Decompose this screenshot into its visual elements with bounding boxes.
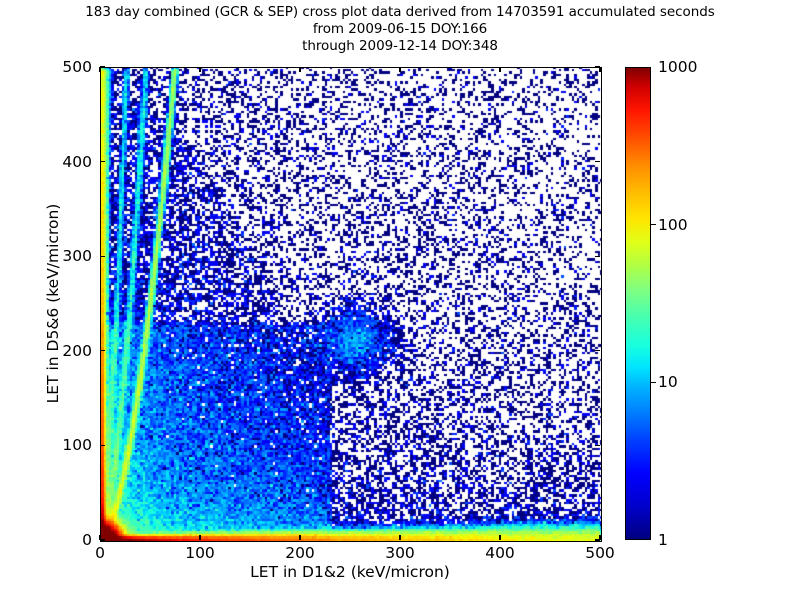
y-tick-right-100 <box>595 445 600 446</box>
colorbar: 1101001000 Counts <box>625 67 651 540</box>
y-tick-400 <box>100 161 105 162</box>
y-tick-right-200 <box>595 350 600 351</box>
chart-title-line-1: 183 day combined (GCR & SEP) cross plot … <box>0 4 800 21</box>
plot-area <box>100 67 602 542</box>
y-tick-100 <box>100 445 105 446</box>
y-tick-300 <box>100 256 105 257</box>
x-tick-label-300: 300 <box>385 544 415 562</box>
colorbar-tick-100 <box>651 224 656 225</box>
colorbar-tick-label-100: 100 <box>658 216 688 234</box>
x-tick-top-0 <box>99 67 100 72</box>
y-tick-right-400 <box>595 161 600 162</box>
y-tick-500 <box>100 66 105 67</box>
x-tick-label-500: 500 <box>585 544 615 562</box>
x-tick-300 <box>399 535 400 540</box>
x-tick-100 <box>199 535 200 540</box>
y-tick-200 <box>100 350 105 351</box>
colorbar-gradient <box>625 67 651 540</box>
y-tick-right-500 <box>595 66 600 67</box>
x-tick-top-400 <box>499 67 500 72</box>
x-tick-200 <box>299 535 300 540</box>
figure-canvas: 183 day combined (GCR & SEP) cross plot … <box>0 0 800 600</box>
x-tick-top-100 <box>199 67 200 72</box>
y-axis-label: LET in D5&6 (keV/micron) <box>44 67 62 540</box>
chart-title: 183 day combined (GCR & SEP) cross plot … <box>0 4 800 55</box>
chart-title-line-3: through 2009-12-14 DOY:348 <box>0 38 800 55</box>
colorbar-tick-label-1: 1 <box>658 531 668 549</box>
x-tick-label-200: 200 <box>285 544 315 562</box>
colorbar-tick-label-1000: 1000 <box>658 58 697 76</box>
colorbar-tick-label-10: 10 <box>658 373 678 391</box>
x-tick-label-400: 400 <box>485 544 515 562</box>
x-tick-top-300 <box>399 67 400 72</box>
x-axis-label: LET in D1&2 (keV/micron) <box>100 563 600 581</box>
x-tick-label-0: 0 <box>95 544 105 562</box>
chart-title-line-2: from 2009-06-15 DOY:166 <box>0 21 800 38</box>
x-tick-400 <box>499 535 500 540</box>
x-tick-top-200 <box>299 67 300 72</box>
heatmap-scatter-layer <box>101 68 601 541</box>
x-tick-label-100: 100 <box>185 544 215 562</box>
colorbar-tick-10 <box>651 382 656 383</box>
y-tick-right-300 <box>595 256 600 257</box>
y-tick-right-0 <box>595 539 600 540</box>
x-tick-top-500 <box>599 67 600 72</box>
y-tick-0 <box>100 539 105 540</box>
